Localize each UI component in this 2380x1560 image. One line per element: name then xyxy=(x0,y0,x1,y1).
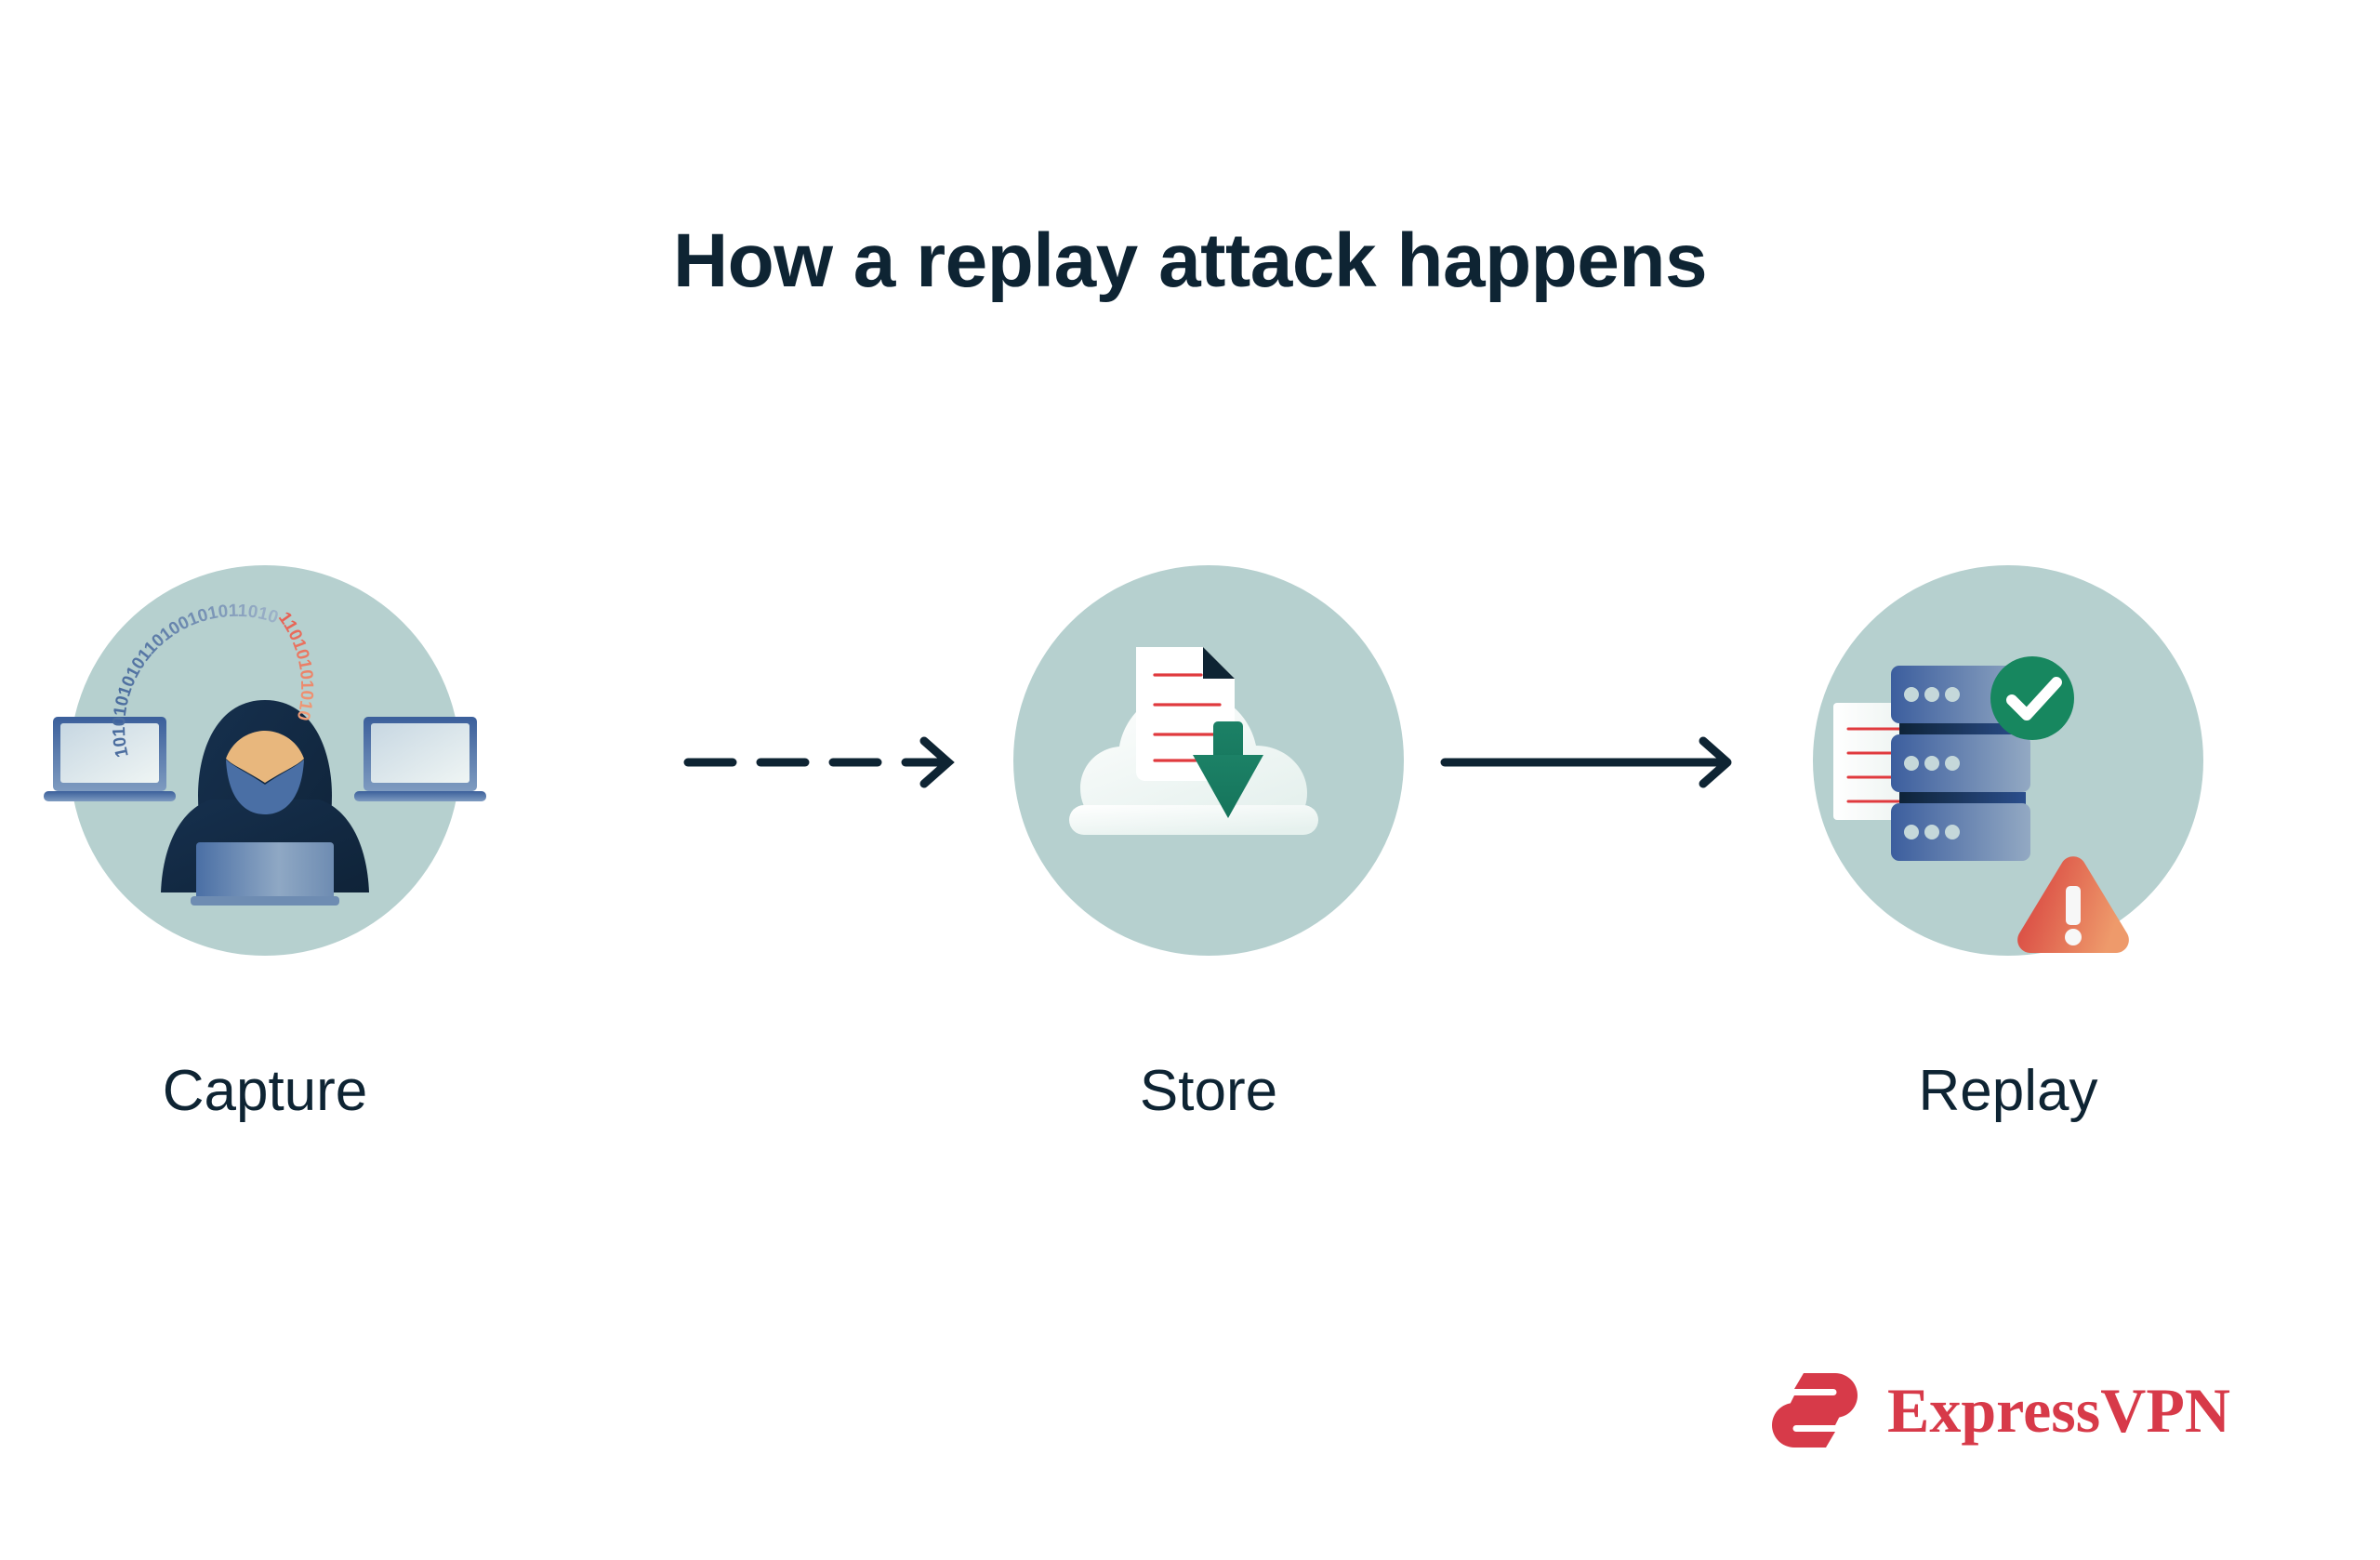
steps-row: 10101010101101001010110101 1101010101010… xyxy=(0,565,2380,1049)
server-dots-tier-3 xyxy=(1904,825,1960,839)
svg-text:110101010101010: 110101010101010 xyxy=(65,550,317,722)
step-store: Store xyxy=(1013,565,1404,956)
warning-triangle-icon xyxy=(2017,856,2129,953)
step-replay: Replay xyxy=(1813,565,2203,956)
page-title: How a replay attack happens xyxy=(0,219,2380,303)
cloud-document-download-icon xyxy=(1013,565,1404,956)
check-circle-icon xyxy=(1990,656,2074,740)
laptop-left-icon xyxy=(44,717,176,801)
laptop-right-icon xyxy=(354,717,486,801)
connector-arrow-store-to-replay xyxy=(1432,730,1757,795)
step-label-capture: Capture xyxy=(0,1058,572,1124)
hooded-hacker-icon xyxy=(161,700,369,906)
hacker-between-laptops-icon: 10101010101101001010110101 1101010101010… xyxy=(70,565,460,956)
server-dots-tier-1 xyxy=(1904,687,1960,702)
infographic-canvas: How a replay attack happens xyxy=(0,0,2380,1560)
server-dots-tier-2 xyxy=(1904,756,1960,771)
expressvpn-wordmark: ExpressVPN xyxy=(1887,1379,2230,1442)
server-stack-warning-icon xyxy=(1813,565,2203,956)
step-capture: 10101010101101001010110101 1101010101010… xyxy=(70,565,460,956)
step-label-replay: Replay xyxy=(1701,1058,2315,1124)
connector-arrow-capture-to-store xyxy=(668,730,974,795)
expressvpn-logo[interactable]: ExpressVPN xyxy=(1766,1359,2194,1461)
step-label-store: Store xyxy=(902,1058,1515,1124)
expressvpn-e-logo-icon xyxy=(1766,1362,1863,1459)
